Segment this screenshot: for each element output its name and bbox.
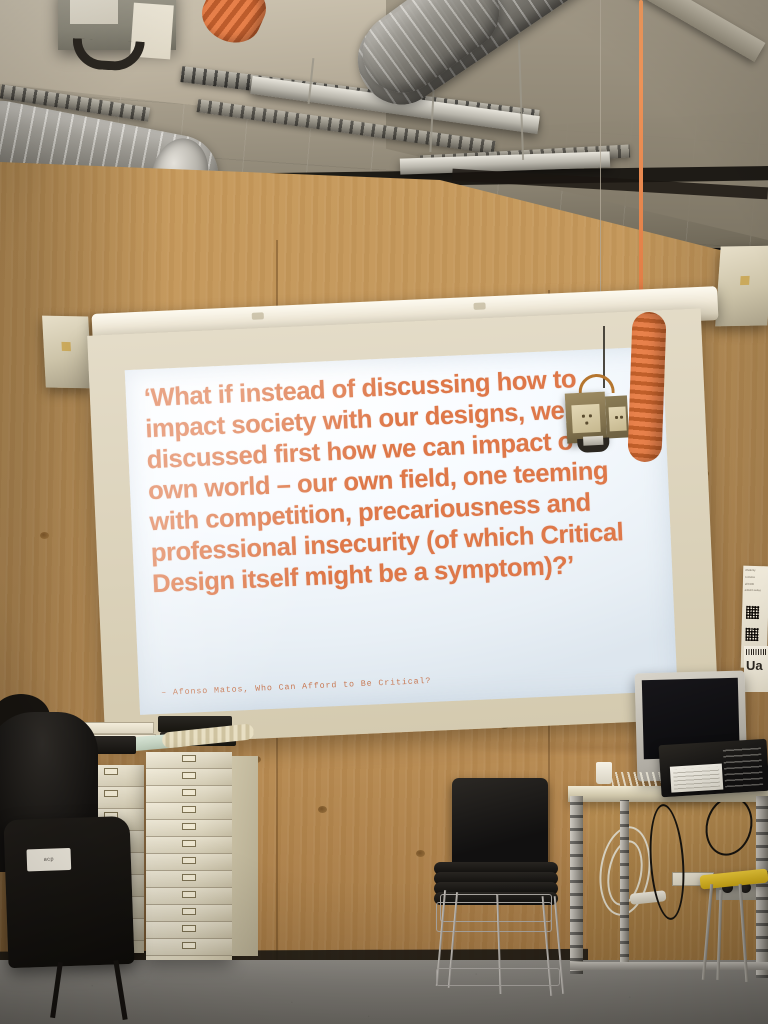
workbench-leg bbox=[570, 796, 583, 974]
socket-faceplate-front[interactable] bbox=[571, 404, 600, 433]
drawer-stack bbox=[146, 752, 232, 960]
cabinet-drawer[interactable] bbox=[146, 752, 232, 769]
cabinet-drawer[interactable] bbox=[146, 803, 232, 820]
slide-attribution-text: – Afonso Matos, Who Can Afford to Be Cri… bbox=[161, 677, 432, 698]
wall-speaker-left bbox=[42, 316, 92, 389]
socket-pin bbox=[589, 414, 592, 417]
orange-cable-drop bbox=[639, 0, 643, 316]
drawer-pull[interactable] bbox=[182, 806, 196, 813]
suspension-wire bbox=[600, 0, 601, 330]
socket-faceplate-side[interactable] bbox=[609, 406, 627, 431]
poster-banner-text: Ua bbox=[746, 658, 763, 673]
drawer-pull[interactable] bbox=[182, 942, 196, 949]
drawer-pull[interactable] bbox=[182, 789, 196, 796]
drawer-pull[interactable] bbox=[104, 790, 118, 797]
document-text-lines bbox=[673, 767, 720, 790]
workbench-leg bbox=[620, 800, 629, 970]
filing-cabinet-side-panel bbox=[232, 756, 258, 956]
laptop-document-reflection bbox=[670, 764, 723, 793]
projection-screen: ‘What if instead of discussing how to im… bbox=[87, 309, 719, 746]
cabinet-drawer[interactable] bbox=[146, 854, 232, 871]
office-chair[interactable]: acp bbox=[3, 816, 134, 968]
qr-code-icon bbox=[745, 628, 758, 641]
cabinet-drawer[interactable] bbox=[146, 871, 232, 888]
workbench-rail bbox=[570, 962, 768, 970]
chair-backrest bbox=[452, 778, 548, 866]
speaker-logo-icon bbox=[740, 276, 750, 285]
plywood-knot bbox=[318, 806, 327, 813]
laptop[interactable] bbox=[659, 739, 768, 797]
cabinet-drawer[interactable] bbox=[146, 837, 232, 854]
drawer-pull[interactable] bbox=[182, 908, 196, 915]
hanging-power-socket-box[interactable] bbox=[564, 384, 629, 449]
socket-pin bbox=[620, 416, 623, 419]
speaker-logo-icon bbox=[61, 342, 70, 351]
drawer-pull[interactable] bbox=[182, 874, 196, 881]
drawer-pull[interactable] bbox=[182, 772, 196, 779]
socket-pin bbox=[615, 416, 618, 419]
plywood-knot bbox=[40, 532, 49, 539]
wall-poster-banner: Ua bbox=[744, 646, 768, 692]
cabinet-drawer[interactable] bbox=[146, 905, 232, 922]
roller-case-mount bbox=[473, 302, 485, 310]
qr-code-icon bbox=[746, 606, 759, 619]
socket-pin bbox=[585, 421, 588, 424]
socket-pin bbox=[582, 415, 585, 418]
room-photo: Anatomy Lectures all 1000 autumn series … bbox=[0, 0, 768, 1024]
drawer-pull[interactable] bbox=[104, 768, 118, 775]
laptop-keyboard[interactable] bbox=[723, 747, 763, 787]
stacked-chairs[interactable] bbox=[434, 778, 558, 906]
mug[interactable] bbox=[596, 762, 612, 784]
cabinet-drawer[interactable] bbox=[146, 820, 232, 837]
cabinet-drawer[interactable] bbox=[146, 786, 232, 803]
cabinet-drawer[interactable] bbox=[146, 769, 232, 786]
poster-barcode-icon bbox=[746, 649, 766, 655]
chair-label: acp bbox=[26, 848, 71, 872]
drawer-pull[interactable] bbox=[182, 755, 196, 762]
plywood-knot bbox=[416, 850, 425, 857]
cabinet-drawer[interactable] bbox=[146, 922, 232, 939]
filing-cabinet-right[interactable] bbox=[146, 752, 232, 960]
drawer-pull[interactable] bbox=[182, 823, 196, 830]
wall-speaker-right bbox=[715, 246, 768, 327]
cabinet-drawer[interactable] bbox=[146, 939, 232, 956]
drawer-pull[interactable] bbox=[182, 857, 196, 864]
cabinet-drawer[interactable] bbox=[146, 888, 232, 905]
drawer-pull[interactable] bbox=[182, 891, 196, 898]
chair-foot-rail bbox=[436, 968, 560, 986]
orange-coiled-cable bbox=[627, 311, 666, 462]
equipment-box-panel bbox=[70, 0, 118, 24]
drawer-pull[interactable] bbox=[182, 840, 196, 847]
socket-box-lens bbox=[583, 436, 603, 446]
workbench-leg bbox=[756, 796, 768, 978]
roller-case-mount bbox=[252, 312, 264, 320]
drawer-pull[interactable] bbox=[182, 925, 196, 932]
poster-text-line-4: autumn series bbox=[743, 586, 768, 593]
